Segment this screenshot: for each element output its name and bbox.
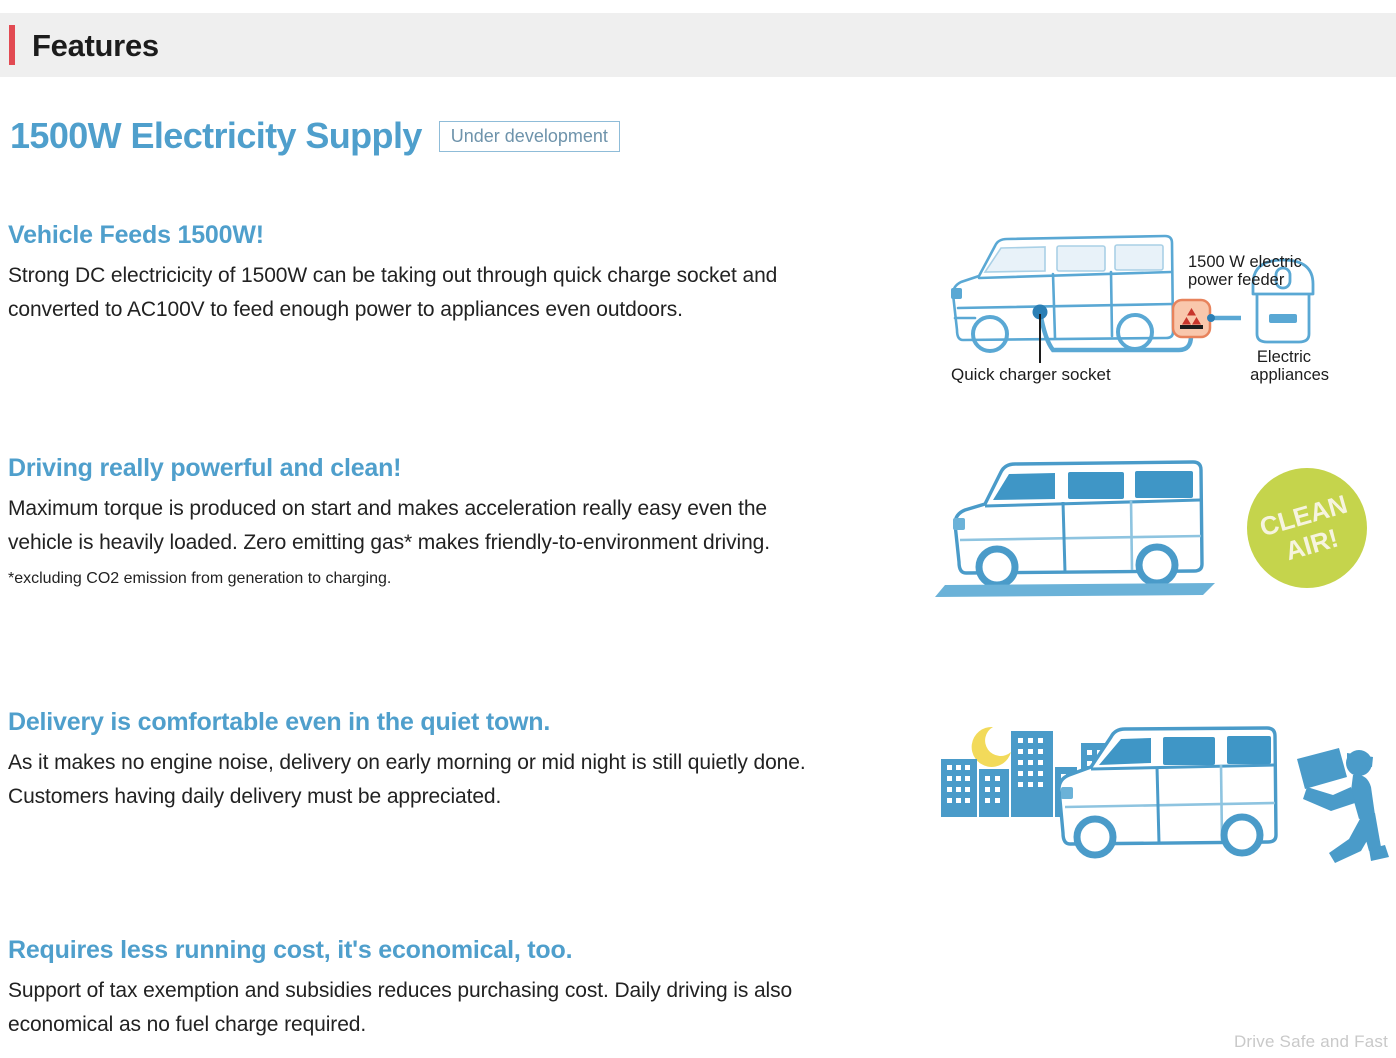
feature-body: Support of tax exemption and subsidies r…	[8, 974, 823, 1042]
feature-body: Strong DC electricicity of 1500W can be …	[8, 259, 823, 327]
van-front-detail	[953, 518, 965, 530]
main-title: 1500W Electricity Supply	[10, 118, 422, 154]
label-quick-charger-socket: Quick charger socket	[951, 365, 1111, 384]
illustration-clean-air: CLEAN AIR!	[935, 452, 1396, 612]
status-badge: Under development	[439, 121, 620, 152]
cable-joint-icon	[1207, 314, 1215, 322]
van-wheels	[973, 315, 1152, 351]
van-window-glass	[993, 471, 1193, 500]
feature-heading: Vehicle Feeds 1500W!	[8, 222, 908, 250]
van-window-glass	[1099, 736, 1271, 765]
clean-air-badge: CLEAN AIR!	[1247, 468, 1367, 588]
feature-footnote: *excluding CO2 emission from generation …	[8, 568, 908, 590]
feature-block: Delivery is comfortable even in the quie…	[8, 709, 908, 814]
cooker-display	[1269, 314, 1297, 323]
feature-body: As it makes no engine noise, delivery on…	[8, 746, 823, 814]
watermark-text: Drive Safe and Fast	[1234, 1032, 1388, 1052]
feature-block: Vehicle Feeds 1500W! Strong DC electrici…	[8, 222, 908, 327]
label-appliances-line1: Electric	[1257, 348, 1311, 366]
van-windows	[985, 245, 1163, 272]
feature-heading: Driving really powerful and clean!	[8, 455, 908, 483]
feature-body: Maximum torque is produced on start and …	[8, 492, 823, 560]
van-shadow	[935, 583, 1215, 597]
illustration-night-delivery	[935, 715, 1396, 875]
van-front-detail	[1061, 787, 1073, 799]
feature-block: Driving really powerful and clean! Maxim…	[8, 455, 908, 590]
crescent-moon-icon	[972, 727, 1011, 767]
power-cable	[1040, 312, 1191, 350]
feature-block: Requires less running cost, it's economi…	[8, 937, 908, 1042]
van-front-detail	[951, 288, 962, 299]
feature-heading: Delivery is comfortable even in the quie…	[8, 709, 908, 737]
van-side-view-icon	[935, 462, 1215, 597]
label-appliances-line2: appliances	[1250, 366, 1329, 384]
illustration-power-supply: Quick charger socket 1500 W electric pow…	[935, 222, 1396, 397]
power-feeder-box	[1173, 300, 1210, 337]
label-feeder-line1: 1500 W electric	[1188, 253, 1302, 271]
delivery-person-icon	[1297, 748, 1389, 863]
features-page: Features 1500W Electricity Supply Under …	[0, 0, 1396, 1058]
page-title: Features	[32, 30, 159, 61]
page-header: Features	[0, 13, 1396, 77]
header-accent-bar	[9, 25, 15, 65]
main-title-row: 1500W Electricity Supply Under developme…	[10, 118, 620, 154]
label-feeder-line2: power feeder	[1188, 271, 1285, 289]
feature-heading: Requires less running cost, it's economi…	[8, 937, 908, 965]
